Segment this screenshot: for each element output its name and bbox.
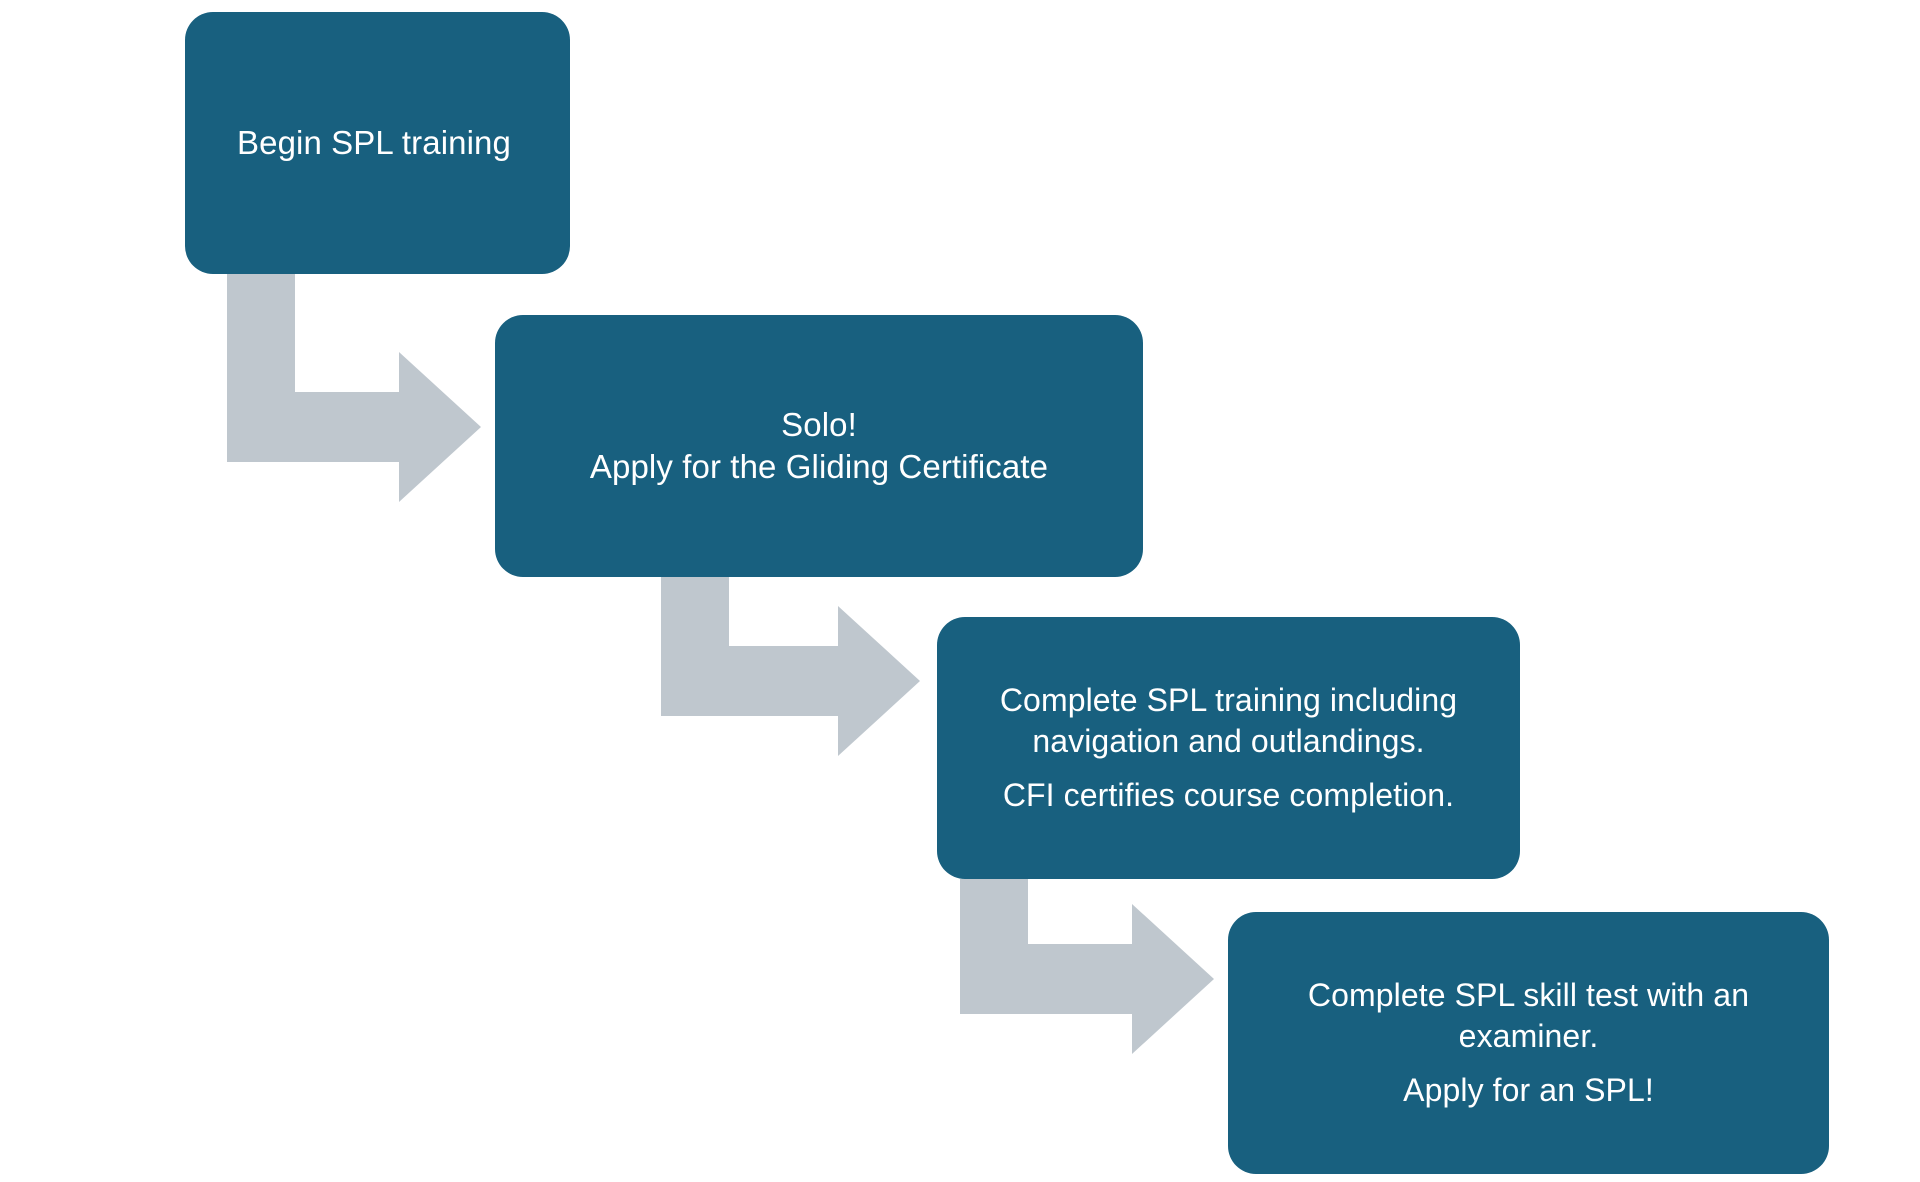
node-complete-spl-training-line-2: CFI certifies course completion. xyxy=(963,775,1494,816)
node-begin-spl-training[interactable]: Begin SPL training xyxy=(185,12,570,274)
node-solo-apply-gliding-certificate-line-2: Apply for the Gliding Certificate xyxy=(521,446,1117,488)
arrow-2-to-3-icon xyxy=(661,577,920,756)
node-complete-spl-training[interactable]: Complete SPL training including navigati… xyxy=(937,617,1520,879)
node-solo-apply-gliding-certificate-line-1: Solo! xyxy=(521,404,1117,446)
arrow-1-to-2-icon xyxy=(227,274,481,502)
node-complete-spl-training-line-1: Complete SPL training including navigati… xyxy=(963,680,1494,762)
node-complete-spl-skill-test-line-2: Apply for an SPL! xyxy=(1254,1070,1803,1111)
flowchart-canvas: Begin SPL training Solo! Apply for the G… xyxy=(0,0,1920,1182)
node-solo-apply-gliding-certificate[interactable]: Solo! Apply for the Gliding Certificate xyxy=(495,315,1143,577)
node-complete-spl-skill-test[interactable]: Complete SPL skill test with an examiner… xyxy=(1228,912,1829,1174)
arrow-3-to-4-icon xyxy=(960,879,1214,1054)
node-complete-spl-skill-test-line-1: Complete SPL skill test with an examiner… xyxy=(1254,975,1803,1057)
node-begin-spl-training-line-1: Begin SPL training xyxy=(185,122,570,164)
